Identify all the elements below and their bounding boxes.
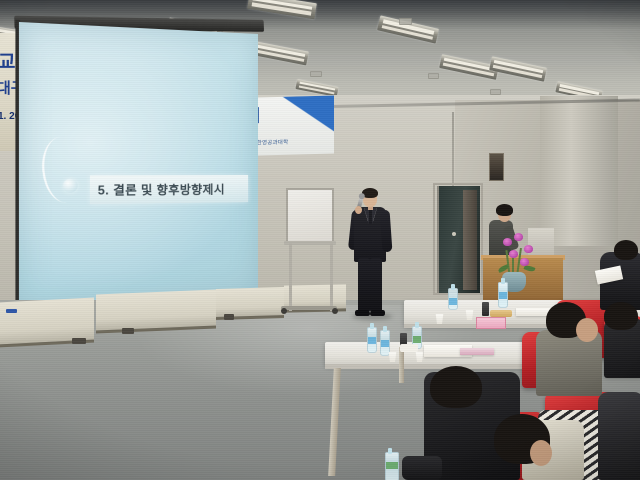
whiteboard-caster-icon [332,308,338,314]
water-bottle[interactable] [448,288,458,310]
presenter-leg [358,258,370,313]
whiteboard-base [281,306,337,310]
banner-swoosh-icon [278,96,334,157]
orchid-bloom-icon [509,250,518,258]
presenter-hand [355,206,362,214]
water-bottle[interactable] [380,330,390,356]
orchid-bloom-icon [514,233,523,241]
attendee-head [530,440,552,466]
projection-screen: 5. 결론 및 향후방향제시 [19,18,258,318]
presenter-leg [370,258,382,313]
whiteboard-leg [289,243,292,311]
attendee-hair [430,366,482,408]
water-bottle[interactable] [385,452,399,480]
ceiling-vent-icon [310,71,322,77]
wall-column [540,96,618,246]
slide-surface: 5. 결론 및 향후방향제시 [19,22,258,308]
snack-tray [490,310,512,317]
radiator-foot [72,338,86,344]
presenter-necktie [369,209,372,224]
front-table-edge [325,364,545,369]
presenter-shoe [355,310,370,316]
water-bottle[interactable] [367,327,377,353]
napkin-pile [400,344,418,352]
water-bottle-label [498,282,508,308]
attendee-hair [614,240,638,260]
presenter-shoe [370,310,385,316]
pink-snack-box[interactable] [476,317,506,329]
radiator-badge [6,309,17,313]
table-leg [399,347,404,383]
slide-swoosh-icon [39,135,83,205]
wall-speaker-icon [489,153,504,181]
orchid-bloom-icon [503,238,512,246]
beverage-can[interactable] [482,302,489,316]
slide-circle-icon [63,179,78,193]
attendee-head [576,318,598,342]
whiteboard-caster-icon [281,308,287,314]
radiator-foot [122,328,134,334]
lecture-hall-photo: 교 대 대구 · 1. 20(금) 1 표회 표회 구대학교 한영공과대학 5.… [0,0,640,480]
documents[interactable] [460,348,494,355]
door-knob-icon[interactable] [452,232,456,236]
slide-title-bar: 5. 결론 및 향후방향제시 [90,175,248,204]
whiteboard-marker-tray [284,241,336,245]
chair-back[interactable] [402,456,442,480]
whiteboard[interactable] [286,188,334,243]
door-panel[interactable] [463,190,477,290]
slide-title-text: 5. 결론 및 향후방향제시 [98,181,225,199]
attendee-hair [604,302,638,330]
staff-hair [496,204,513,216]
whiteboard-leg [330,243,333,311]
ceiling-vent-icon [428,73,439,79]
radiator-foot [224,314,234,320]
radiator-unit [96,289,216,333]
orchid-bloom-icon [524,245,533,253]
ceiling-vent-icon [399,18,412,25]
documents[interactable] [516,308,550,316]
attendee-coat [598,392,640,480]
